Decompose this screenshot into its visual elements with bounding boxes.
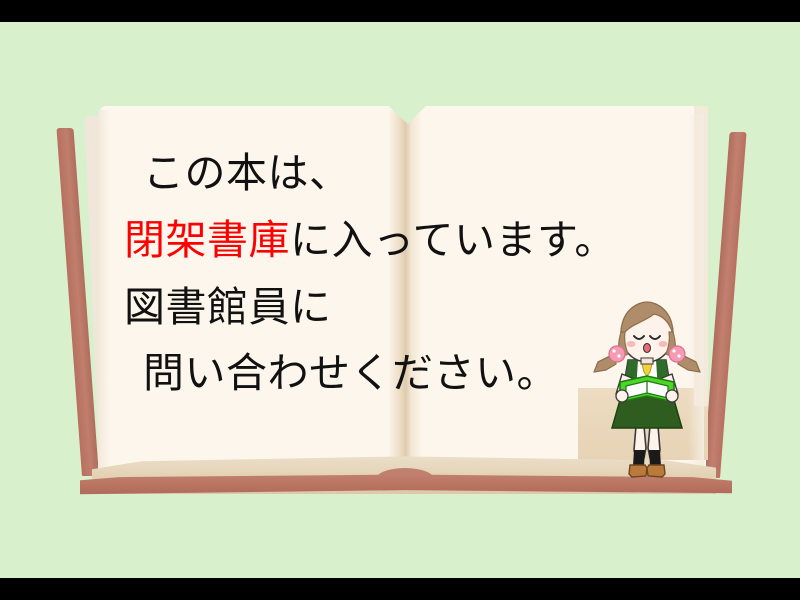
message-highlight-term: 閉架書庫 xyxy=(124,216,290,264)
book-page-edge-left xyxy=(98,110,110,472)
message-line-2-suffix: に入っています。 xyxy=(290,216,616,264)
message-line-2: 閉架書庫に入っています。 xyxy=(124,207,724,274)
screenshot-stage: この本は、 閉架書庫に入っています。 図書館員に 問い合わせください。 xyxy=(0,0,800,600)
librarian-girl-icon xyxy=(592,298,710,484)
letterbox-bottom xyxy=(0,578,800,600)
letterbox-top xyxy=(0,0,800,22)
illustration-canvas: この本は、 閉架書庫に入っています。 図書館員に 問い合わせください。 xyxy=(0,22,800,578)
message-line-1: この本は、 xyxy=(124,140,724,207)
